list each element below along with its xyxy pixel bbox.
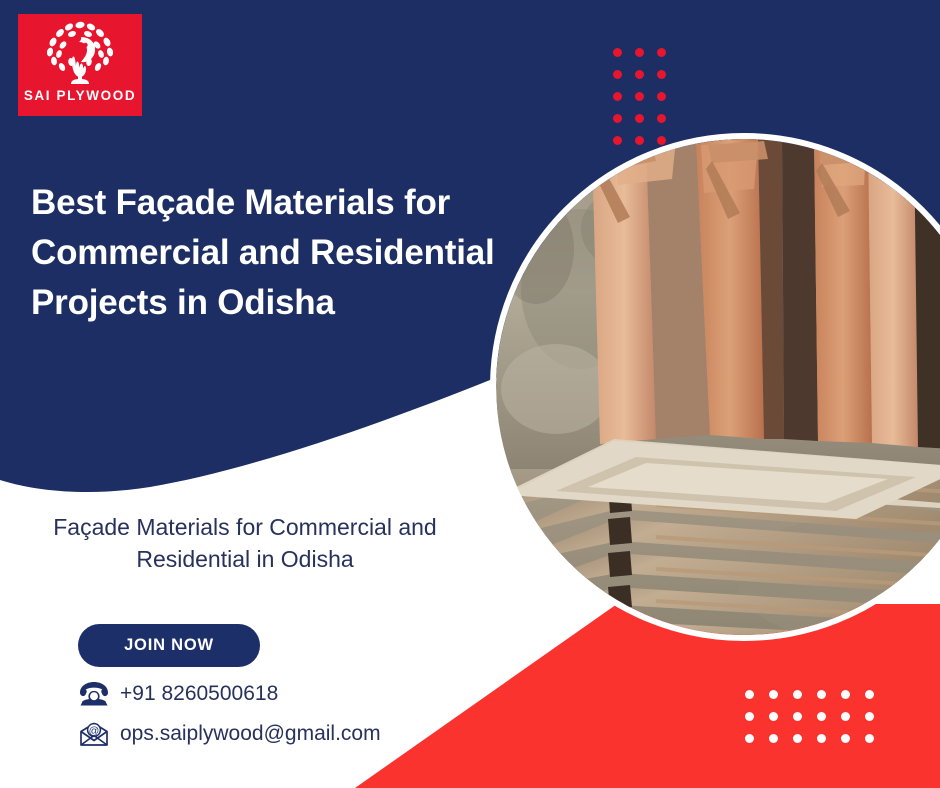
dot	[841, 712, 850, 721]
dot	[657, 70, 666, 79]
dot	[657, 48, 666, 57]
dot	[841, 690, 850, 699]
dot	[613, 48, 622, 57]
contact-phone[interactable]: +91 8260500618	[78, 680, 278, 708]
dot	[865, 712, 874, 721]
join-now-button[interactable]: JOIN NOW	[78, 624, 260, 667]
dot	[613, 70, 622, 79]
dot	[817, 712, 826, 721]
tree-peacock-logo-icon	[41, 18, 119, 88]
dot	[841, 734, 850, 743]
dot	[613, 136, 622, 145]
dot	[745, 712, 754, 721]
dot	[613, 92, 622, 101]
email-address: ops.saiplywood@gmail.com	[120, 722, 381, 746]
dot	[635, 136, 644, 145]
envelope-at-icon: @	[78, 720, 110, 748]
dot	[745, 734, 754, 743]
dot	[769, 734, 778, 743]
subtitle: Façade Materials for Commercial and Resi…	[20, 512, 470, 575]
page-title: Best Façade Materials for Commercial and…	[31, 178, 501, 327]
dot	[635, 48, 644, 57]
photo-illustration	[496, 139, 940, 635]
dot	[657, 92, 666, 101]
dot	[635, 114, 644, 123]
dot	[817, 690, 826, 699]
telephone-icon	[78, 680, 110, 708]
dot	[793, 690, 802, 699]
decorative-dot-grid-bottom	[745, 690, 889, 756]
dot	[793, 734, 802, 743]
brand-logo[interactable]: SAI PLYWOOD	[18, 14, 142, 116]
dot	[657, 114, 666, 123]
decorative-dot-grid-top	[613, 48, 679, 158]
dot	[745, 690, 754, 699]
hero-photo	[496, 139, 940, 635]
dot	[769, 712, 778, 721]
dot	[793, 712, 802, 721]
phone-number: +91 8260500618	[120, 682, 278, 706]
contact-email[interactable]: @ ops.saiplywood@gmail.com	[78, 720, 381, 748]
dot	[635, 92, 644, 101]
dot	[657, 136, 666, 145]
dot	[865, 690, 874, 699]
brand-logo-text: SAI PLYWOOD	[24, 89, 136, 103]
dot	[817, 734, 826, 743]
poster-canvas: SAI PLYWOOD Best Façade Materials for Co…	[0, 0, 940, 788]
hero-photo-circle	[490, 133, 940, 641]
dot	[769, 690, 778, 699]
dot	[613, 114, 622, 123]
dot	[635, 70, 644, 79]
svg-text:@: @	[89, 725, 100, 737]
dot	[865, 734, 874, 743]
